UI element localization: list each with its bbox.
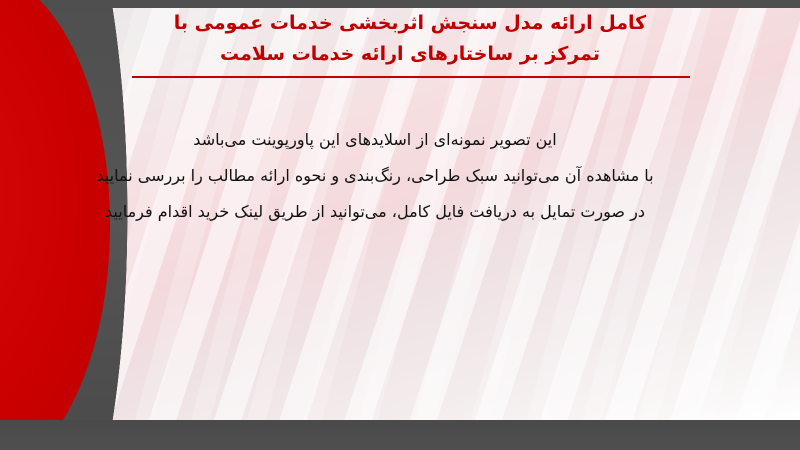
body-line-3: در صورت تمایل به دریافت فایل کامل، می‌تو… bbox=[60, 194, 690, 230]
body-line-2: با مشاهده آن می‌توانید سبک طراحی، رنگ‌بن… bbox=[60, 158, 690, 194]
presentation-slide: کامل ارائه مدل سنجش اثربخشی خدمات عمومی … bbox=[0, 0, 800, 450]
slide-title-line-2: تمرکز بر ساختارهای ارائه خدمات سلامت bbox=[120, 39, 700, 70]
slide-body-text: این تصویر نمونه‌ای از اسلایدهای این پاور… bbox=[60, 122, 690, 230]
slide-title: کامل ارائه مدل سنجش اثربخشی خدمات عمومی … bbox=[120, 8, 700, 70]
body-line-1: این تصویر نمونه‌ای از اسلایدهای این پاور… bbox=[60, 122, 690, 158]
slide-bottom-band bbox=[0, 420, 800, 450]
title-divider-rule bbox=[132, 76, 690, 78]
slide-title-line-1: کامل ارائه مدل سنجش اثربخشی خدمات عمومی … bbox=[120, 8, 700, 39]
